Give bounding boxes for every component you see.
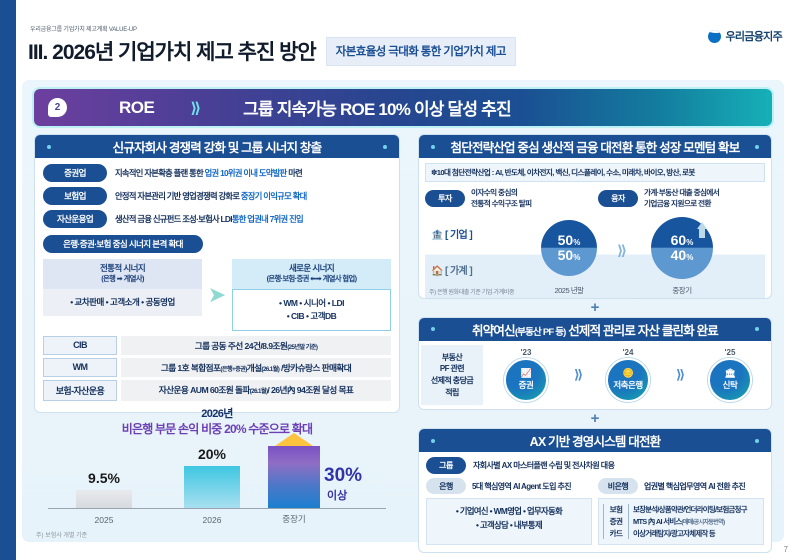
bar-2026 [184, 466, 240, 508]
v: 50 [558, 247, 574, 263]
ax-group-row: 그룹 자회사별 AX 마스터플랜 수립 및 전사차원 대응 [426, 457, 764, 474]
step-year-25: '25 [691, 348, 769, 357]
synergy-comparison: 전통적 시너지 (은행 ➡ 계열사) • 교차판매 • 고객소개 • 공동영업 … [43, 259, 391, 331]
step-year-23: '23 [487, 348, 565, 357]
ax-val-card: 이상거래탐지/광고자체제작 등 [633, 528, 715, 539]
plus-icon: + [418, 302, 772, 314]
chart-icon: 📈 [521, 369, 532, 378]
left-accent-bar [0, 0, 16, 560]
bullet-dot-right-icon [755, 145, 759, 149]
investment-line2: 전통적 수익구조 탈피 [471, 198, 532, 209]
card-title-text: 첨단전략산업 중심 생산적 금융 대전환 통한 성장 모멘텀 확보 [451, 137, 740, 156]
cleanup-title-rest: 선제적 관리로 자산 클린화 완료 [566, 324, 718, 338]
step-trust: '25 🏛 신탁 [691, 348, 769, 402]
ratio-circle-2025: 50% 50% [541, 220, 597, 276]
row-label-wm: WM [43, 358, 117, 377]
pct: % [573, 238, 580, 247]
row-value-wm: 그룹 1호 복합점포(은행+증권)개설(26.1월) /방카슈랑스 판매확대 [121, 358, 391, 377]
chart-title: 2026년 [34, 408, 400, 422]
ax-key-card: 카드 [603, 528, 629, 540]
pill-text-securities: 지속적인 자본확충 플랜 통한 업권 10위권 이내 도약발판 마련 [115, 167, 302, 179]
building-icon: 🏦 [431, 230, 443, 241]
step-name-trust: 신탁 [723, 379, 738, 391]
card-ax-transformation: AX 기반 경영시스템 대전환 그룹 자회사별 AX 마스터플랜 수립 및 전사… [418, 428, 772, 553]
synergy-new: 새로운 시너지 (은행·보험·증권 ⬅➡ 계열사 협업) • WM • 시니어 … [232, 259, 391, 331]
title-row: III. 2026년 기업가치 제고 추진 방안 자본효율성 극대화 통한 기업… [28, 36, 516, 66]
ax-val-insurance: 보장분석/상품약관/언더라이팅/보험금청구 [633, 504, 747, 515]
chart-title-block: 2026년 비은행 부문 손익 비중 20% 수준으로 확대 [34, 408, 400, 437]
bar-value-2026: 20% [184, 446, 240, 462]
lending-text: 가계·부동산 대출 중심에서 기업금융 지원으로 전환 [644, 187, 719, 210]
bank-icon: 🏛 [725, 369, 736, 378]
wm-note2: (26.1월) [262, 366, 280, 373]
coin-icon: 🪙 [623, 369, 634, 378]
up-arrow-stem-icon [699, 228, 705, 238]
ax-nonbank-line-securities: 증권 MTS 內 AI 서비스(매매/공시자동번역) [603, 516, 759, 528]
pill-row-synergy: 은행·증권·보험 중심 시너지 본격 확대 [43, 235, 391, 253]
pill-group: 그룹 [426, 457, 466, 474]
pill-row-insurance: 보험업 안정적 자본관리 기반 영업경쟁력 강화로 중장기 이익규모 확대 [43, 187, 391, 205]
ins-text-a: 안정적 자본관리 기반 영업경쟁력 강화로 [115, 191, 241, 201]
table-row: 보험-자산운용 자산운용 AUM 60조원 돌파(26.1월)/ 26년內 94… [43, 380, 391, 401]
wooribank-logo-icon [708, 30, 721, 43]
row-label-insurance-am: 보험-자산운용 [43, 380, 117, 401]
row-label-cib: CIB [43, 336, 117, 355]
bullet-dot-left-icon [431, 439, 435, 443]
banner-goal: 그룹 지속가능 ROE 10% 이상 달성 추진 [243, 95, 511, 120]
step-name-securities: 증권 [519, 379, 534, 391]
synergy-traditional-items: • 교차판매 • 고객소개 • 공동영업 [43, 289, 202, 316]
pill-asset-management: 자산운용업 [43, 210, 107, 228]
v: 50 [558, 232, 574, 248]
card-new-subsidiary-synergy: 신규자회사 경쟁력 강화 및 그룹 시너지 창출 증권업 지속적인 자본확충 플… [34, 134, 400, 413]
pill-text-asset-management: 생산적 금융 신규펀드 조성·보험사 LDI통한 업권내 7위권 진입 [115, 213, 303, 225]
ax-key-insurance: 보험 [603, 504, 629, 516]
slide: 우리금융그룹 기업가치 제고계획 VALUE-UP III. 2026년 기업가… [0, 0, 800, 560]
corporate-row: 🏦 [ 기업 ] [431, 226, 472, 241]
longterm-pct: 30% [324, 465, 362, 486]
bar-value-longterm: 30% [324, 465, 362, 487]
synergy-new-header: 새로운 시너지 (은행·보험·증권 ⬅➡ 계열사 협업) [232, 259, 391, 289]
ax-bank-text: 5대 핵심영역 AI Agent 도입 추진 [472, 481, 571, 492]
bar-label-2025: 2025 [76, 515, 132, 525]
household-row: 🏠 [ 가계 ] [431, 262, 472, 277]
ratio-footnote: 주) 은행 원화대출 기준 기업·가계비중 [429, 287, 514, 296]
step-securities: '23 📈 증권 [487, 348, 565, 402]
card-title-ax: AX 기반 경영시스템 대전환 [419, 429, 771, 452]
pill-investment: 투자 [425, 190, 465, 207]
chart-footnote: 주) 보험사 개별 기준 [36, 530, 87, 539]
pct: % [573, 253, 580, 262]
pill-row-securities: 증권업 지속적인 자본확충 플랜 통한 업권 10위권 이내 도약발판 마련 [43, 164, 391, 182]
ax-nonbank-line-card: 카드 이상거래탐지/광고자체제작 등 [603, 528, 759, 540]
step-circle-trust: 🏛 신탁 [708, 358, 752, 402]
brand-logo: 우리금융지주 [708, 28, 782, 44]
wm-value3: /방카슈랑스 판매확대 [279, 363, 351, 373]
ax-bank-items-2: • 고객상담 • 내부통제 [431, 518, 587, 532]
bullet-dot-left-icon [47, 145, 51, 149]
cib-value: 그룹 공동 주선 24건/8.9조원 [195, 341, 288, 351]
house-icon: 🏠 [431, 266, 443, 277]
synergy-traditional-sub: (은행 ➡ 계열사) [45, 274, 200, 284]
page-number: 7 [784, 545, 788, 554]
ax-val-securities: MTS 內 AI 서비스(매매/공시자동번역) [633, 516, 724, 527]
pill-insurance: 보험업 [43, 187, 107, 205]
ins-am-value2: / 26년內 94조원 달성 목표 [267, 385, 353, 395]
chart-x-axis [48, 508, 386, 509]
pill-securities: 증권업 [43, 164, 107, 182]
investment-item: 투자 이자수익 중심의 전통적 수익구조 탈피 [425, 187, 592, 210]
wm-value: 그룹 1호 복합점포 [161, 363, 221, 373]
ax-nonbank-items: 보험 보장분석/상품약관/언더라이팅/보험금청구 증권 MTS 內 AI 서비스… [598, 498, 764, 545]
chevron-right-icon: ⟫ [617, 242, 624, 259]
synergy-new-items-1: • WM • 시니어 • LDI [235, 297, 388, 310]
ax-detail-boxes: • 기업여신 • WM영업 • 업무자동화 • 고객상담 • 내부통제 보험 보… [426, 498, 764, 545]
wm-value2: 개설 [247, 363, 262, 373]
bar-value-longterm-suffix: 이상 [327, 487, 347, 503]
slide-kicker: 우리금융그룹 기업가치 제고계획 VALUE-UP [30, 24, 137, 33]
ax-nonbank-line-insurance: 보험 보장분석/상품약관/언더라이팅/보험금청구 [603, 504, 759, 516]
card-title-cleanup: 취약여신(부동산 PF 등) 선제적 관리로 자산 클린화 완료 [419, 318, 771, 341]
pct: % [686, 238, 693, 247]
ratio-caption-longterm: 중장기 [651, 285, 713, 296]
chevron-right-icon: ⟫ [671, 367, 687, 383]
synergy-new-title: 새로운 시너지 [234, 263, 389, 274]
am-text-b: 통한 업권내 7위권 진입 [232, 214, 303, 224]
ratio-2025-corp: 50% [558, 233, 581, 247]
card-title-subsidiary: 신규자회사 경쟁력 강화 및 그룹 시너지 창출 [35, 135, 399, 158]
v: MTS 內 AI 서비스 [633, 517, 682, 526]
step-name-savings-bank: 저축은행 [613, 379, 642, 391]
card-title-text: AX 기반 경영시스템 대전환 [530, 431, 661, 450]
wm-note: (은행+증권) [220, 366, 246, 373]
chip-nonbank: 비은행 [598, 478, 638, 494]
ratio-lt-house: 40% [671, 248, 694, 262]
pill-lending: 융자 [598, 190, 638, 207]
row-value-insurance-am: 자산운용 AUM 60조원 돌파(26.1월)/ 26년內 94조원 달성 목표 [121, 380, 391, 401]
bar-label-2026: 2026 [184, 515, 240, 525]
card-strategic-industry: 첨단전략산업 중심 생산적 금융 대전환 통한 성장 모멘텀 확보 ✽10대 첨… [418, 134, 772, 299]
v: 40 [671, 247, 687, 263]
synergy-traditional: 전통적 시너지 (은행 ➡ 계열사) • 교차판매 • 고객소개 • 공동영업 [43, 259, 202, 331]
chart-subtitle: 비은행 부문 손익 비중 20% 수준으로 확대 [34, 422, 400, 437]
left-column: 신규자회사 경쟁력 강화 및 그룹 시너지 창출 증권업 지속적인 자본확충 플… [34, 134, 400, 413]
pill-synergy-expansion: 은행·증권·보험 중심 시너지 본격 확대 [43, 235, 203, 253]
ratio-lt-corp: 60% [671, 233, 694, 247]
section-number: 2 [48, 98, 67, 117]
step-savings-bank: '24 🪙 저축은행 [589, 348, 667, 402]
chart-plot: 9.5% 2025 20% 2026 30% 이상 중장기 주) 보험사 개별 … [34, 441, 400, 531]
cleanup-title-paren: (부동산 PF 등) [515, 327, 566, 338]
ax-segment-row: 은행 5대 핵심영역 AI Agent 도입 추진 비은행 업권별 핵심업무영역… [426, 478, 764, 494]
cib-note: (25년말 기준) [287, 344, 317, 351]
page-title: III. 2026년 기업가치 제고 추진 방안 [28, 36, 316, 66]
synergy-results-table: CIB 그룹 공동 주선 24건/8.9조원(25년말 기준) WM 그룹 1호… [43, 336, 391, 401]
arrow-right-icon: ➤ [206, 259, 228, 331]
chevron-right-icon: ⟫ [569, 367, 585, 383]
cleanup-title-main: 취약여신 [472, 324, 515, 338]
cleanup-steps: 부동산 PF 관련 선제적 충당금 적립 '23 📈 증권 ⟫ '24 🪙 저축… [419, 341, 771, 409]
section-banner: 2 ROE ⟫ 그룹 지속가능 ROE 10% 이상 달성 추진 [34, 89, 772, 126]
bullet-dot-right-icon [755, 327, 759, 331]
lending-line2: 기업금융 지원으로 전환 [644, 198, 719, 209]
right-column: 첨단전략산업 중심 생산적 금융 대전환 통한 성장 모멘텀 확보 ✽10대 첨… [418, 134, 772, 553]
v: 보장분석/상품약관/언더라이팅/보험금청구 [633, 505, 747, 514]
bar-label-longterm: 중장기 [268, 513, 320, 525]
pf-provision-label: 부동산 PF 관련 선제적 충당금 적립 [421, 345, 483, 405]
card-body-subsidiary: 증권업 지속적인 자본확충 플랜 통한 업권 10위권 이내 도약발판 마련 보… [35, 158, 399, 412]
bullet-dot-right-icon [383, 145, 387, 149]
bar-2025 [76, 490, 132, 508]
step-circle-savings-bank: 🪙 저축은행 [606, 358, 650, 402]
bullet-dot-left-icon [431, 145, 435, 149]
corporate-label: [ 기업 ] [445, 230, 472, 241]
chip-bank: 은행 [426, 478, 466, 494]
bullet-dot-right-icon [755, 439, 759, 443]
plus-icon: + [418, 413, 772, 425]
lending-line1: 가계·부동산 대출 중심에서 [644, 187, 719, 198]
lending-item: 융자 가계·부동산 대출 중심에서 기업금융 지원으로 전환 [598, 187, 765, 210]
brand-name: 우리금융지주 [725, 28, 782, 44]
ax-bank-items: • 기업여신 • WM영업 • 업무자동화 • 고객상담 • 내부통제 [426, 498, 592, 545]
nonbank-profit-chart: 2026년 비은행 부문 손익 비중 20% 수준으로 확대 9.5% 2025… [34, 408, 400, 548]
card-title-strategic: 첨단전략산업 중심 생산적 금융 대전환 통한 성장 모멘텀 확보 [419, 135, 771, 158]
page-subtitle: 자본효율성 극대화 통한 기업가치 제고 [326, 37, 516, 66]
banner-metric: ROE [119, 98, 154, 118]
ins-am-value: 자산운용 AUM 60조원 돌파 [159, 385, 250, 395]
chevron-right-icon: ⟫ [190, 99, 197, 117]
investment-line1: 이자수익 중심의 [471, 187, 532, 198]
bar-longterm [268, 446, 320, 508]
household-label: [ 가계 ] [445, 266, 472, 277]
synergy-new-items-2: • CIB • 고객DB [235, 310, 388, 323]
step-year-24: '24 [589, 348, 667, 357]
s: (매매/공시자동번역) [682, 519, 725, 526]
ax-bank-head: 은행 5대 핵심영역 AI Agent 도입 추진 [426, 478, 592, 494]
card-body-ax: 그룹 자회사별 AX 마스터플랜 수립 및 전사차원 대응 은행 5대 핵심영역… [419, 452, 771, 552]
strategic-industries-note: ✽10대 첨단전략산업 : AI, 반도체, 이차전지, 백신, 디스플레이, … [425, 163, 765, 182]
card-title-text: 신규자회사 경쟁력 강화 및 그룹 시너지 창출 [113, 137, 322, 156]
card-body-strategic: ✽10대 첨단전략산업 : AI, 반도체, 이차전지, 백신, 디스플레이, … [419, 158, 771, 298]
synergy-new-sub: (은행·보험·증권 ⬅➡ 계열사 협업) [234, 274, 389, 284]
loan-mix-diagram: 🏦 [ 기업 ] 🏠 [ 가계 ] 50% 50% ⟫ 60% 40% [425, 212, 765, 298]
v: 60 [671, 232, 687, 248]
step-circle-securities: 📈 증권 [504, 358, 548, 402]
v: 이상거래탐지/광고자체제작 등 [633, 529, 715, 538]
am-text-a: 생산적 금융 신규펀드 조성·보험사 LDI [115, 214, 232, 224]
pct: % [686, 253, 693, 262]
bar-value-2025: 9.5% [76, 470, 132, 486]
bullet-dot-left-icon [431, 327, 435, 331]
ax-nonbank-text: 업권별 핵심업무영역 AI 전환 추진 [644, 481, 745, 492]
investment-text: 이자수익 중심의 전통적 수익구조 탈피 [471, 187, 532, 210]
synergy-traditional-header: 전통적 시너지 (은행 ➡ 계열사) [43, 259, 202, 289]
synergy-new-items: • WM • 시니어 • LDI • CIB • 고객DB [232, 289, 391, 331]
table-row: CIB 그룹 공동 주선 24건/8.9조원(25년말 기준) [43, 336, 391, 355]
ax-nonbank-head: 비은행 업권별 핵심업무영역 AI 전환 추진 [598, 478, 764, 494]
investment-lending-row: 투자 이자수익 중심의 전통적 수익구조 탈피 융자 가계·부동산 대출 중심에… [425, 187, 765, 210]
sec-text-a: 지속적인 자본확충 플랜 통한 [115, 168, 205, 178]
cleanup-title-text: 취약여신(부동산 PF 등) 선제적 관리로 자산 클린화 완료 [472, 320, 718, 339]
ratio-2025-house: 50% [558, 248, 581, 262]
ins-am-note: (26.1월) [250, 388, 268, 395]
row-value-cib: 그룹 공동 주선 24건/8.9조원(25년말 기준) [121, 336, 391, 355]
pill-row-asset-management: 자산운용업 생산적 금융 신규펀드 조성·보험사 LDI통한 업권내 7위권 진… [43, 210, 391, 228]
ins-text-b: 중장기 이익규모 확대 [241, 191, 307, 201]
pill-text-insurance: 안정적 자본관리 기반 영업경쟁력 강화로 중장기 이익규모 확대 [115, 190, 307, 202]
synergy-traditional-title: 전통적 시너지 [45, 263, 200, 274]
ratio-caption-2025: 2025 년말 [541, 285, 597, 296]
ax-group-text: 자회사별 AX 마스터플랜 수립 및 전사차원 대응 [473, 460, 614, 471]
table-row: WM 그룹 1호 복합점포(은행+증권)개설(26.1월) /방카슈랑스 판매확… [43, 358, 391, 377]
card-weak-credit-cleanup: 취약여신(부동산 PF 등) 선제적 관리로 자산 클린화 완료 부동산 PF … [418, 317, 772, 410]
sec-text-b: 업권 10위권 이내 도약발판 [205, 168, 287, 178]
ax-key-securities: 증권 [603, 516, 629, 528]
ax-bank-items-1: • 기업여신 • WM영업 • 업무자동화 [431, 504, 587, 518]
sec-text-c: 마련 [287, 168, 302, 178]
